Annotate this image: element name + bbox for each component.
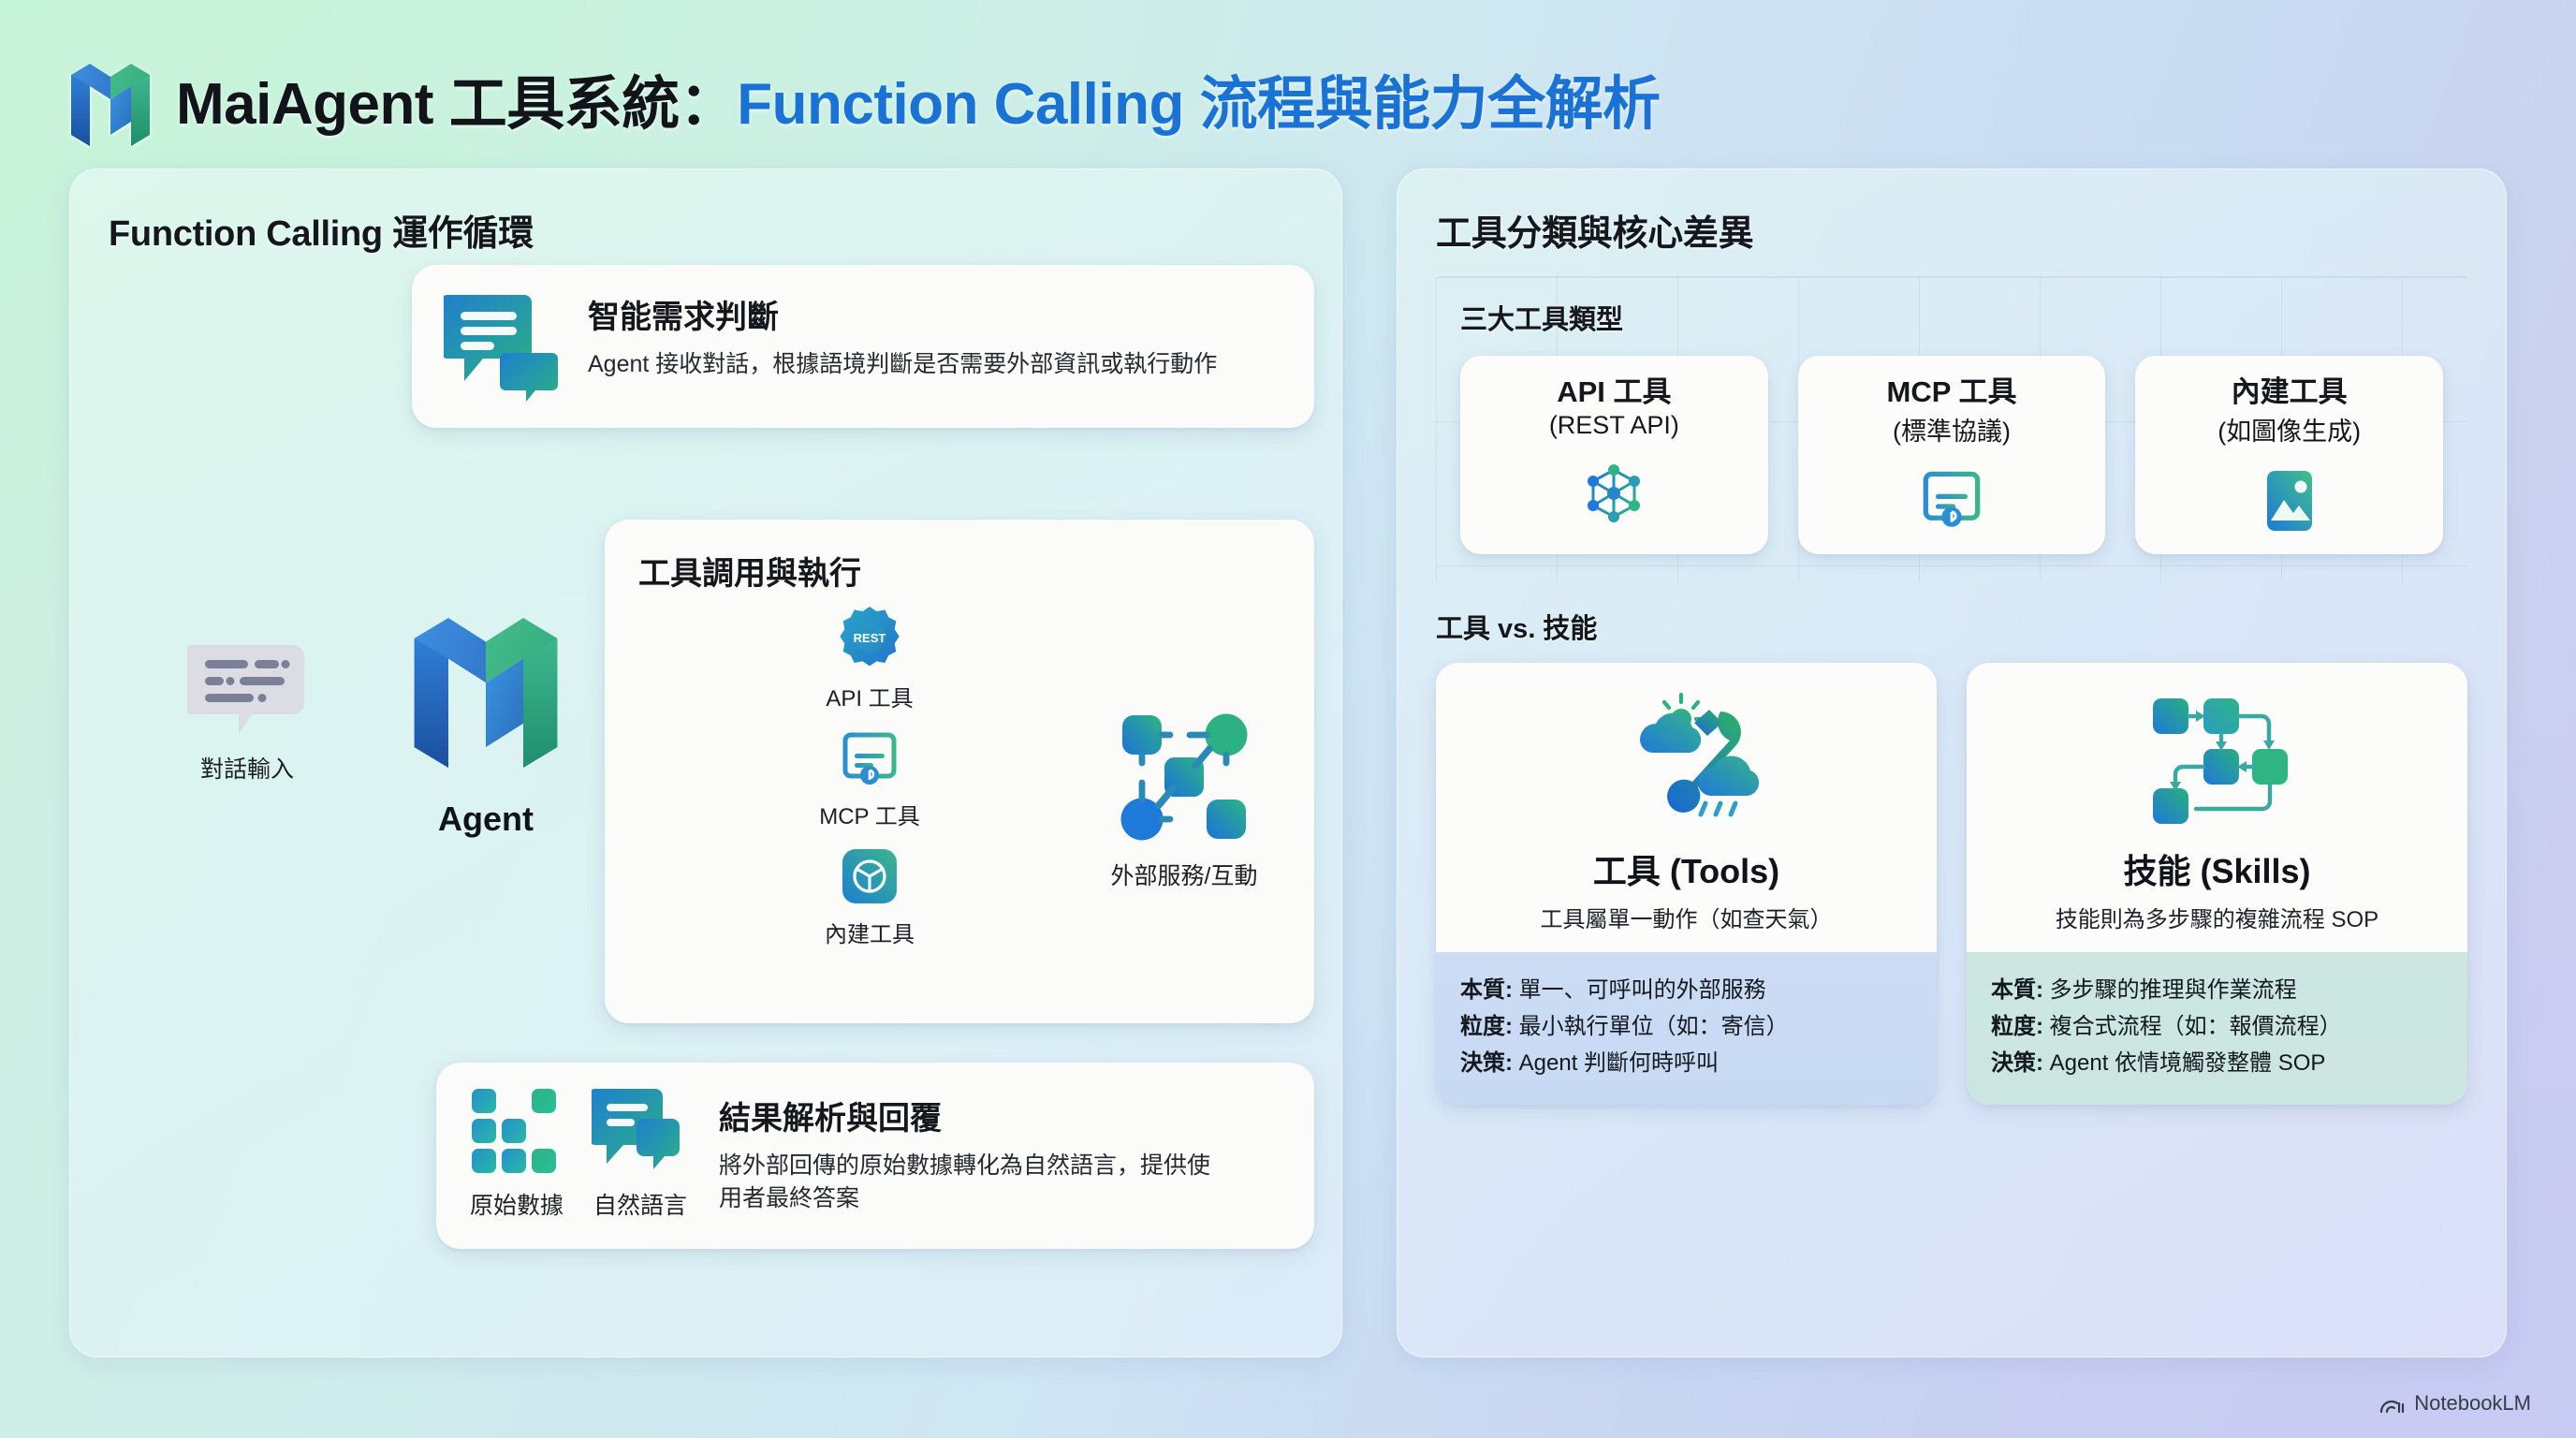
flow-diagram: 對話輸入 Agent <box>69 256 1342 1304</box>
step3-body: 將外部回傳的原始數據轉化為自然語言，提供使用者最終答案 <box>719 1150 1224 1216</box>
tool-type-sub-mcp: (標準協議) <box>1893 411 2011 448</box>
comparison-details-tools: 本質: 單一、可呼叫的外部服務 粒度: 最小執行單位（如：寄信） 決策: Age… <box>1436 952 1937 1105</box>
tools-row2-key: 粒度: <box>1460 1014 1513 1039</box>
maiagent-logo <box>69 56 152 154</box>
comparison-title-skills: 技能 (Skills) <box>2123 844 2310 893</box>
step3-heading: 結果解析與回覆 <box>719 1093 1224 1138</box>
natural-language-label: 自然語言 <box>592 1187 689 1221</box>
external-service-label: 外部服務/互動 <box>1067 858 1301 891</box>
tools-row1-key: 本質: <box>1460 977 1513 1003</box>
page-title: MaiAgent 工具系統：Function Calling 流程與能力全解析 <box>176 76 1661 134</box>
skills-row1-key: 本質: <box>1991 977 2043 1003</box>
tool-item-mcp: MCP 工具 <box>762 729 977 830</box>
skills-row3-val: Agent 依情境觸發整體 SOP <box>2043 1050 2325 1076</box>
tool-item-builtin: 內建工具 <box>762 847 977 948</box>
tools-vs-skills-heading: 工具 vs. 技能 <box>1397 582 2507 646</box>
skills-row3-key: 決策: <box>1991 1050 2043 1076</box>
tool-label-mcp: MCP 工具 <box>762 798 977 830</box>
tools-row3-key: 決策: <box>1460 1050 1513 1076</box>
page-header: MaiAgent 工具系統：Function Calling 流程與能力全解析 <box>0 0 2576 169</box>
notebooklm-icon <box>2378 1392 2405 1415</box>
step2-heading: 工具調用與執行 <box>638 548 1281 594</box>
tool-type-sub-builtin: (如圖像生成) <box>2217 411 2361 448</box>
function-calling-panel: Function Calling 運作循環 對話輸入 <box>69 169 1342 1357</box>
openai-swirl-icon <box>841 847 899 905</box>
notebooklm-label: NotebookLM <box>2414 1391 2531 1416</box>
comparison-card-skills[interactable]: 技能 (Skills) 技能則為多步驟的複雜流程 SOP 本質: 多步驟的推理與… <box>1967 663 2467 1105</box>
tool-type-name-api: API 工具 <box>1557 376 1671 409</box>
dialog-input-block: 對話輸入 <box>107 639 388 785</box>
chat-reply-icon <box>592 1087 689 1177</box>
tools-row1-val: 單一、可呼叫的外部服務 <box>1513 977 1766 1003</box>
tool-type-card-mcp[interactable]: MCP 工具 (標準協議) <box>1798 356 2106 554</box>
dialog-input-label: 對話輸入 <box>107 751 388 785</box>
tool-types-heading: 三大工具類型 <box>1460 298 2443 337</box>
svg-text:REST: REST <box>854 631 886 645</box>
tools-row2-val: 最小執行單位（如：寄信） <box>1513 1014 1789 1039</box>
rest-gear-icon: REST <box>838 606 901 669</box>
tool-type-card-api[interactable]: API 工具 (REST API) <box>1460 356 1768 554</box>
tool-item-api: REST API 工具 <box>762 606 977 712</box>
tool-label-api: API 工具 <box>762 680 977 712</box>
tool-list: REST API 工具 <box>762 606 977 948</box>
image-generation-icon <box>2260 468 2320 534</box>
notebooklm-watermark: NotebookLM <box>2378 1391 2531 1416</box>
data-grid-icon <box>468 1087 565 1177</box>
api-molecule-icon <box>1580 461 1647 528</box>
tool-label-builtin: 內建工具 <box>762 916 977 948</box>
tool-type-card-builtin[interactable]: 內建工具 (如圖像生成) <box>2135 356 2443 554</box>
left-panel-title: Function Calling 運作循環 <box>69 169 1342 256</box>
raw-data-label: 原始數據 <box>468 1187 565 1221</box>
skills-row2-val: 複合式流程（如：報價流程） <box>2043 1014 2342 1039</box>
comparison-card-tools[interactable]: 工具 (Tools) 工具屬單一動作（如查天氣） 本質: 單一、可呼叫的外部服務… <box>1436 663 1937 1105</box>
agent-label: Agent <box>378 800 593 839</box>
chat-messages-icon <box>444 291 560 402</box>
tool-type-name-mcp: MCP 工具 <box>1887 376 2017 409</box>
tool-types-section: 三大工具類型 API 工具 (REST API) <box>1436 276 2467 582</box>
agent-block: Agent <box>378 604 593 839</box>
chat-bubble-icon <box>187 639 307 741</box>
skills-row1-val: 多步驟的推理與作業流程 <box>2043 977 2297 1003</box>
comparison-title-tools: 工具 (Tools) <box>1593 844 1779 893</box>
wrench-weather-icon <box>1612 687 1762 829</box>
page-title-part2: Function Calling 流程與能力全解析 <box>737 72 1660 137</box>
step1-body: Agent 接收對話，根據語境判斷是否需要外部資訊或執行動作 <box>588 348 1217 382</box>
workflow-diagram-icon <box>2142 687 2293 829</box>
comparison-details-skills: 本質: 多步驟的推理與作業流程 粒度: 複合式流程（如：報價流程） 決策: Ag… <box>1967 952 2467 1105</box>
step-card-response: 原始數據 自然語言 結果解析與回覆 將外部回傳的原始數據轉化為自然語言，提供使用… <box>436 1063 1314 1249</box>
tool-type-sub-api: (REST API) <box>1549 411 1679 440</box>
natural-language-block: 自然語言 <box>592 1087 689 1221</box>
skills-row2-key: 粒度: <box>1991 1014 2043 1039</box>
page-title-part1: MaiAgent 工具系統： <box>176 72 737 137</box>
mcp-protocol-icon <box>1921 468 1983 530</box>
step-card-intent: 智能需求判斷 Agent 接收對話，根據語境判斷是否需要外部資訊或執行動作 <box>412 265 1314 428</box>
tool-classification-panel: 工具分類與核心差異 三大工具類型 API 工具 (REST API) <box>1397 169 2507 1357</box>
step1-heading: 智能需求判斷 <box>588 291 1217 337</box>
tool-type-name-builtin: 內建工具 <box>2232 376 2348 409</box>
comparison-sub-tools: 工具屬單一動作（如查天氣） <box>1541 901 1833 933</box>
external-service-block: 外部服務/互動 <box>1067 707 1301 891</box>
mcp-window-icon <box>841 729 899 787</box>
step-card-execution: 工具調用與執行 REST API 工具 <box>605 520 1314 1023</box>
right-panel-title: 工具分類與核心差異 <box>1397 169 2507 256</box>
network-nodes-icon <box>1114 707 1254 847</box>
maiagent-logo <box>411 604 561 782</box>
comparison-sub-skills: 技能則為多步驟的複雜流程 SOP <box>2056 901 2378 933</box>
tools-row3-val: Agent 判斷何時呼叫 <box>1513 1050 1719 1076</box>
raw-data-block: 原始數據 <box>468 1087 565 1221</box>
